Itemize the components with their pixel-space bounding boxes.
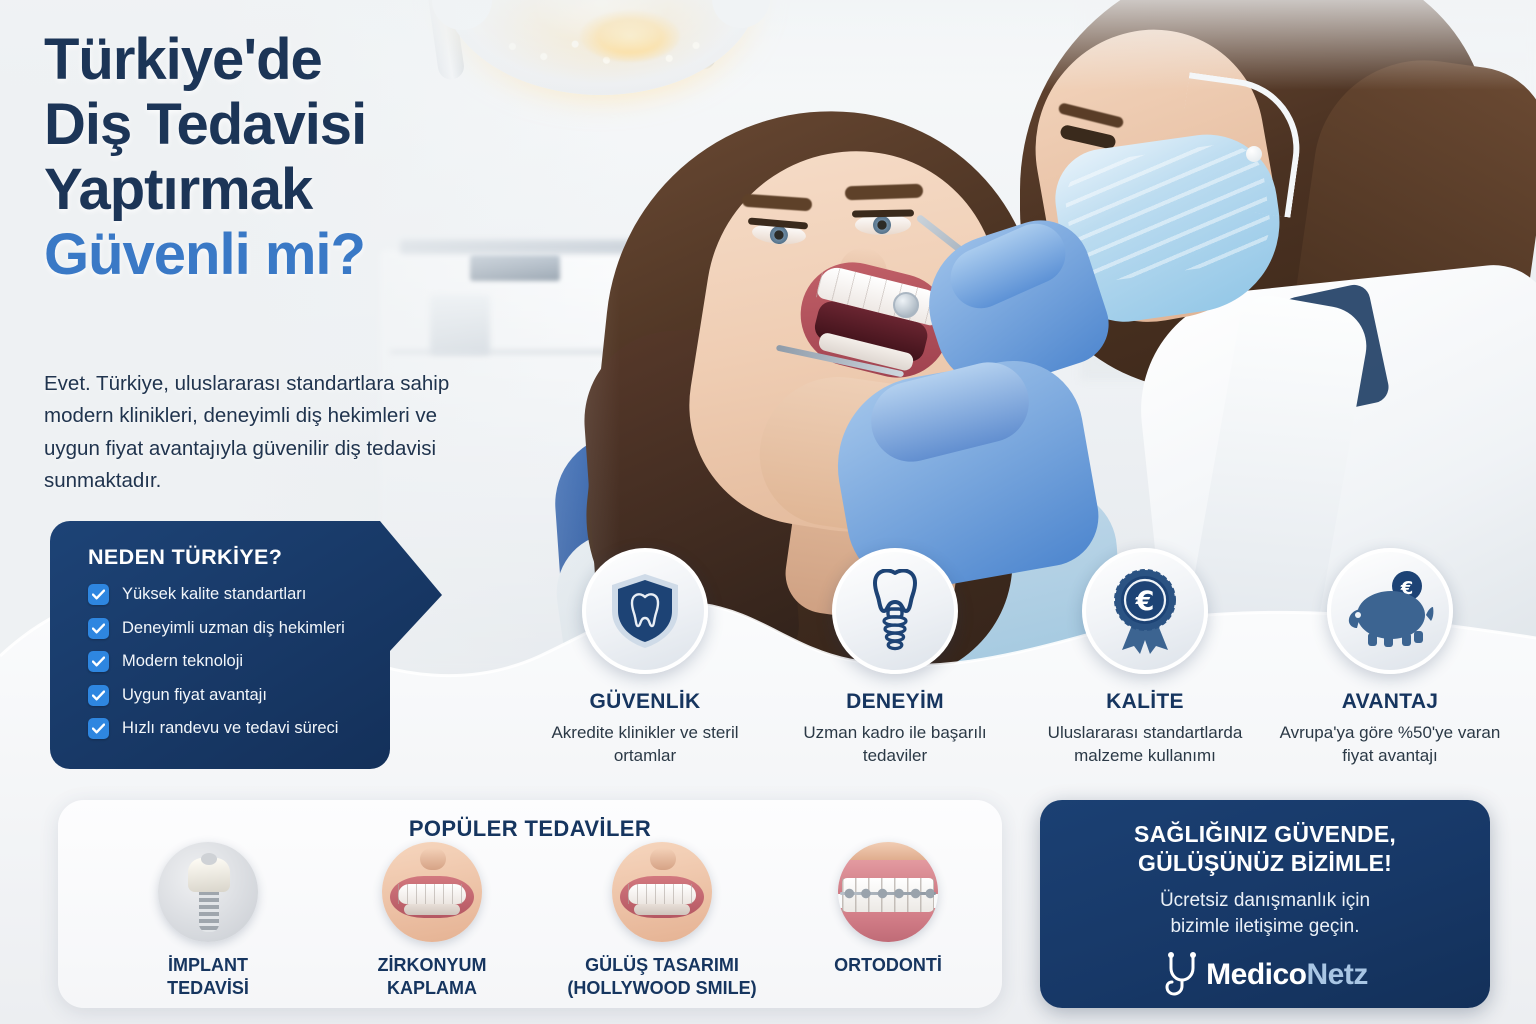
feature-row: GÜVENLİK Akredite klinikler ve steril or…	[470, 548, 1510, 798]
svg-text:€: €	[1135, 586, 1155, 617]
treatment-zirconia[interactable]: ZİRKONYUM KAPLAMA	[322, 842, 542, 1001]
page-title: Türkiye'de Diş Tedavisi Yaptırmak Güvenl…	[44, 28, 564, 288]
treatment-label: ORTODONTİ	[778, 954, 998, 977]
why-turkey-card: NEDEN TÜRKİYE? Yüksek kalite standartlar…	[50, 521, 450, 769]
cta-subtitle-line1: Ücretsiz danışmanlık için	[1160, 890, 1370, 911]
feature-guvenlik: GÜVENLİK Akredite klinikler ve steril or…	[525, 548, 765, 768]
popular-treatments-title: POPÜLER TEDAVİLER	[58, 816, 1002, 842]
why-card-title: NEDEN TÜRKİYE?	[88, 545, 418, 570]
dentist-earring	[1246, 146, 1262, 162]
why-list-item-label: Uygun fiyat avantajı	[122, 686, 267, 705]
dental-implant-icon	[832, 548, 958, 674]
cta-title-line2: GÜLÜŞÜNÜZ BİZİMLE!	[1138, 850, 1392, 876]
patient-lash-right	[852, 209, 914, 217]
logo-word-2: Netz	[1307, 958, 1368, 991]
cta-subtitle: Ücretsiz danışmanlık için bizimle iletiş…	[1040, 888, 1490, 940]
headline-line-3: Yaptırmak	[44, 157, 312, 222]
headline-line-4-accent: Güvenli mi?	[44, 222, 365, 287]
why-list-item: Deneyimli uzman diş hekimleri	[88, 618, 418, 639]
feature-deneyim: DENEYİM Uzman kadro ile başarılı tedavil…	[775, 548, 1015, 768]
treatment-label-line1: GÜLÜŞ TASARIMI	[585, 955, 739, 975]
intro-paragraph: Evet. Türkiye, uluslararası standartlara…	[44, 368, 494, 498]
iris	[873, 216, 891, 234]
cta-title: SAĞLIĞINIZ GÜVENDE, GÜLÜŞÜNÜZ BİZİMLE!	[1040, 820, 1490, 878]
headline-line-1: Türkiye'de	[44, 27, 322, 92]
treatment-label-line1: İMPLANT	[168, 955, 248, 975]
treatment-label-line1: ORTODONTİ	[834, 955, 942, 975]
treatment-label-line2: (HOLLYWOOD SMILE)	[567, 978, 756, 998]
feature-desc: Uluslararası standartlarda malzeme kulla…	[1025, 721, 1265, 768]
why-list-item-label: Deneyimli uzman diş hekimleri	[122, 619, 345, 638]
feature-desc: Uzman kadro ile başarılı tedaviler	[775, 721, 1015, 768]
stethoscope-icon	[1162, 952, 1202, 998]
feature-desc: Avrupa'ya göre %50'ye varan fiyat avanta…	[1270, 721, 1510, 768]
cta-subtitle-line2: bizimle iletişime geçin.	[1170, 916, 1359, 937]
zirconia-smile-photo	[382, 842, 482, 942]
treatment-orthodontics[interactable]: ORTODONTİ	[778, 842, 998, 977]
treatment-label: İMPLANT TEDAVİSİ	[98, 954, 318, 1001]
check-icon	[88, 685, 109, 706]
piggy-bank-euro-icon: €	[1327, 548, 1453, 674]
why-list-item: Hızlı randevu ve tedavi süreci	[88, 718, 418, 739]
check-icon	[88, 718, 109, 739]
cta-card[interactable]: SAĞLIĞINIZ GÜVENDE, GÜLÜŞÜNÜZ BİZİMLE! Ü…	[1040, 800, 1490, 1008]
infographic-canvas: Türkiye'de Diş Tedavisi Yaptırmak Güvenl…	[0, 0, 1536, 1024]
brand-logo: MedicoNetz	[1040, 952, 1490, 998]
why-list-item-label: Modern teknoloji	[122, 652, 243, 671]
shield-tooth-icon	[582, 548, 708, 674]
why-list-item-label: Hızlı randevu ve tedavi süreci	[122, 719, 338, 738]
braces-photo	[838, 842, 938, 942]
why-list-item: Yüksek kalite standartları	[88, 584, 418, 605]
check-icon	[88, 651, 109, 672]
logo-word-1: Medico	[1206, 958, 1306, 991]
hollywood-smile-photo	[612, 842, 712, 942]
treatment-label: GÜLÜŞ TASARIMI (HOLLYWOOD SMILE)	[552, 954, 772, 1001]
feature-title: GÜVENLİK	[525, 690, 765, 714]
popular-treatments-card: POPÜLER TEDAVİLER İMPLANT TEDAVİSİ ZİRKO…	[58, 800, 1002, 1008]
feature-title: KALİTE	[1025, 690, 1265, 714]
patient-eyebrow-right	[845, 184, 923, 201]
why-card-list: Yüksek kalite standartları Deneyimli uzm…	[88, 584, 418, 739]
check-icon	[88, 618, 109, 639]
treatment-label: ZİRKONYUM KAPLAMA	[322, 954, 542, 1001]
dental-implant-photo	[158, 842, 258, 942]
feature-title: DENEYİM	[775, 690, 1015, 714]
feature-avantaj: € AVANTAJ Avrupa'ya göre %50'ye varan fi…	[1270, 548, 1510, 768]
feature-title: AVANTAJ	[1270, 690, 1510, 714]
iris	[769, 225, 789, 245]
treatment-smile-design[interactable]: GÜLÜŞ TASARIMI (HOLLYWOOD SMILE)	[552, 842, 772, 1001]
treatment-implant[interactable]: İMPLANT TEDAVİSİ	[98, 842, 318, 1001]
feature-kalite: € KALİTE Uluslararası standartlarda malz…	[1025, 548, 1265, 768]
treatment-label-line2: TEDAVİSİ	[167, 978, 249, 998]
brand-logo-text: MedicoNetz	[1206, 958, 1368, 992]
treatment-label-line2: KAPLAMA	[387, 978, 477, 998]
award-euro-icon: €	[1082, 548, 1208, 674]
why-list-item: Modern teknoloji	[88, 651, 418, 672]
treatment-label-line1: ZİRKONYUM	[378, 955, 487, 975]
headline-line-2: Diş Tedavisi	[44, 92, 366, 157]
check-icon	[88, 584, 109, 605]
cta-title-line1: SAĞLIĞINIZ GÜVENDE,	[1134, 821, 1396, 847]
feature-desc: Akredite klinikler ve steril ortamlar	[525, 721, 765, 768]
why-list-item: Uygun fiyat avantajı	[88, 685, 418, 706]
why-list-item-label: Yüksek kalite standartları	[122, 585, 306, 604]
dental-mirror-head	[893, 292, 919, 318]
